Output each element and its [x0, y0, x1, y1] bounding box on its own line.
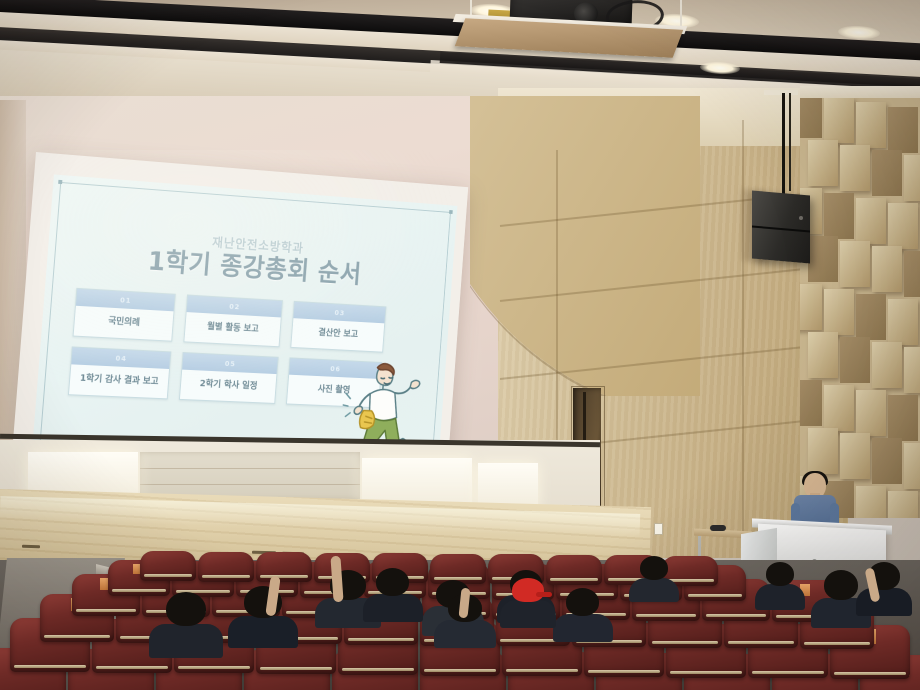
seat-rail: [14, 665, 86, 668]
seat-rail: [144, 574, 192, 577]
agenda-card-label: 2학기 학사 일정: [180, 370, 277, 403]
seat-rail: [260, 667, 332, 670]
wall-seam-vertical: [742, 120, 744, 540]
acoustic-panel-block: [840, 337, 870, 383]
audience-member-head: [640, 556, 668, 580]
wall-outlet-icon: [654, 523, 663, 535]
acoustic-panel-block: [800, 98, 822, 138]
acoustic-panel-block: [856, 486, 886, 518]
acoustic-panel-block: [888, 107, 918, 153]
speaker-led-icon: [799, 216, 803, 220]
acoustic-panel-block: [824, 289, 854, 335]
seat-rail: [178, 666, 250, 669]
seat-rail: [348, 638, 414, 641]
audience-member-shoulders: [629, 578, 679, 602]
table-object: [710, 525, 726, 531]
acoustic-panel-block: [808, 236, 838, 282]
acoustic-panel-block: [872, 150, 902, 196]
audience-member-head: [766, 562, 794, 586]
agenda-card: 03결산안 보고: [290, 301, 386, 353]
seat-rail: [688, 594, 742, 597]
agenda-card: 02월별 활동 보고: [183, 294, 283, 347]
seat-rail: [424, 669, 496, 672]
audience-member-shoulders: [149, 624, 223, 658]
audience-member-shoulders: [363, 594, 423, 622]
presentation-slide: 재난안전소방학과 1학기 종강총회 순서 01국민의례02월별 활동 보고03결…: [32, 174, 457, 464]
audience-member-shoulders: [500, 600, 556, 628]
seat-rail: [706, 614, 766, 617]
acoustic-panel-block: [904, 251, 920, 297]
seat-rail: [752, 671, 824, 674]
acoustic-panel-block: [840, 145, 870, 191]
seat-rail: [588, 670, 660, 673]
speaker-support-rod: [782, 93, 785, 197]
acoustic-panel-block: [856, 390, 886, 436]
acoustic-panel-wall: [800, 98, 920, 518]
agenda-card-label: 결산안 보고: [291, 318, 384, 351]
acoustic-panel-block: [800, 284, 822, 330]
curved-wall-feature: [470, 96, 700, 396]
audience-member-head: [566, 588, 599, 616]
seat-rail: [342, 668, 414, 671]
seat-rail: [834, 672, 906, 675]
agenda-card-label: 국민의례: [74, 306, 174, 341]
seat-rail: [506, 669, 578, 672]
acoustic-panel-block: [872, 438, 902, 484]
acoustic-panel-block: [824, 385, 854, 431]
stage-panel-seam: [140, 468, 360, 469]
seat-rail: [550, 578, 598, 581]
auditorium-photo: 재난안전소방학과 1학기 종강총회 순서 01국민의례02월별 활동 보고03결…: [0, 0, 920, 690]
acoustic-panel-block: [872, 246, 902, 292]
seat-rail: [636, 614, 696, 617]
cap-brim: [536, 592, 552, 597]
seat-rail: [44, 635, 110, 638]
acoustic-panel-block: [824, 193, 854, 239]
projection-screen: 재난안전소방학과 1학기 종강총회 순서 01국민의례02월별 활동 보고03결…: [11, 152, 468, 481]
acoustic-panel-block: [904, 347, 920, 393]
red-cap: [512, 578, 544, 602]
seat-rail: [728, 641, 794, 644]
acoustic-panel-block: [808, 332, 838, 378]
audience-member-head: [166, 592, 206, 626]
ceiling-light-icon: [838, 25, 881, 40]
agenda-card-label: 1학기 감사 결과 보고: [69, 364, 169, 398]
seat-rail: [202, 575, 250, 578]
acoustic-panel-block: [856, 198, 886, 244]
seat-rail: [260, 575, 308, 578]
agenda-card: 041학기 감사 결과 보고: [68, 346, 171, 399]
audience-member-shoulders: [856, 588, 912, 616]
speaker-ceiling-plate: [764, 90, 798, 95]
seat-rail: [652, 641, 718, 644]
acoustic-panel-block: [856, 102, 886, 148]
agenda-card: 052학기 학사 일정: [179, 352, 279, 404]
audience-member-shoulders: [434, 620, 496, 648]
curved-wall-edge: [470, 96, 700, 396]
seat-rail: [434, 577, 482, 580]
acoustic-panel-block: [888, 395, 918, 441]
stage-wall-panel: [140, 452, 360, 500]
audience-member-shoulders: [228, 616, 298, 648]
audience-member-head: [376, 568, 409, 596]
acoustic-panel-block: [856, 294, 886, 340]
acoustic-panel-block: [888, 203, 918, 249]
slide-handle-icon: [449, 210, 453, 214]
ceiling-projector: [452, 0, 692, 64]
slide-handle-icon: [58, 180, 62, 184]
stage-floor-slot: [22, 545, 40, 549]
audience-member-head: [824, 570, 858, 600]
acoustic-panel-block: [808, 428, 838, 474]
seat-rail: [804, 642, 870, 645]
seat-rail: [670, 671, 742, 674]
audience-member-shoulders: [755, 584, 805, 610]
acoustic-panel-block: [808, 140, 838, 186]
acoustic-panel-block: [840, 241, 870, 287]
acoustic-panel-block: [840, 433, 870, 479]
acoustic-panel-block: [904, 443, 920, 489]
seat-rail: [76, 609, 136, 612]
agenda-card-label: 월별 활동 보고: [184, 312, 280, 346]
stage-panel-seam: [140, 484, 360, 485]
seat-rail: [112, 589, 166, 592]
acoustic-panel-block: [800, 380, 822, 426]
acoustic-panel-block: [888, 299, 918, 345]
agenda-card: 01국민의례: [73, 288, 176, 342]
speaker-support-rod: [789, 93, 791, 191]
acoustic-panel-block: [888, 491, 918, 518]
acoustic-panel-block: [904, 155, 920, 201]
acoustic-panel-block: [872, 342, 902, 388]
audience-member-shoulders: [553, 614, 613, 642]
acoustic-panel-block: [824, 98, 854, 143]
seat-rail: [96, 666, 168, 669]
